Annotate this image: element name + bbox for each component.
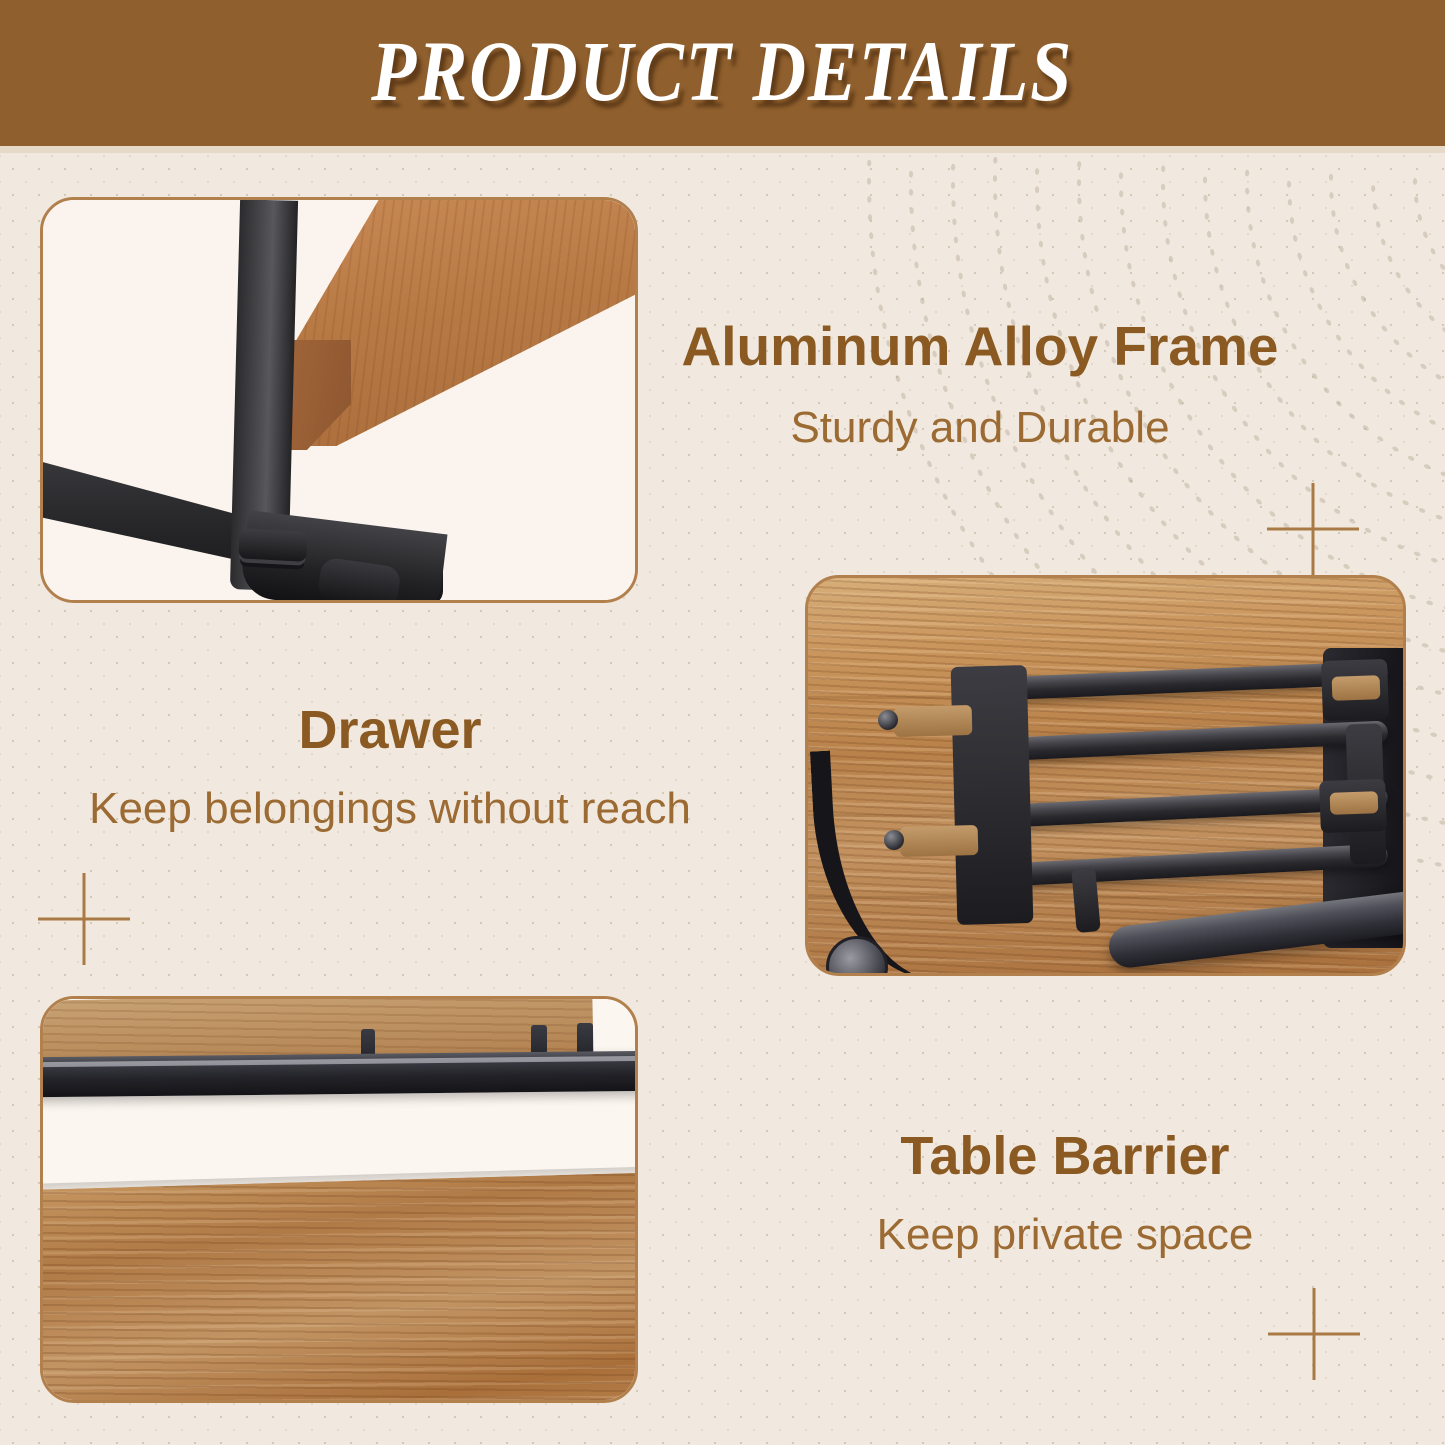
feature-text-drawer: Drawer Keep belongings without reach [60,702,720,833]
feature-subtitle: Sturdy and Durable [655,404,1305,452]
header-bar: PRODUCT DETAILS [0,0,1445,146]
feature-title: Table Barrier [745,1128,1385,1185]
page-title: PRODUCT DETAILS [372,28,1074,118]
plus-mark-icon [1268,1288,1360,1380]
left-mounting-plate [951,665,1034,925]
feature-subtitle: Keep belongings without reach [60,785,720,833]
aluminum-frame-photo [43,200,635,600]
feature-title: Aluminum Alloy Frame [655,318,1305,376]
feature-text-table-barrier: Table Barrier Keep private space [745,1128,1385,1259]
bolt-upper [878,710,898,730]
feature-image-drawer [805,575,1406,976]
leg-collar-joint [238,528,307,562]
plus-mark-icon [1267,483,1359,575]
header-underline [0,146,1445,153]
feature-text-aluminum-alloy-frame: Aluminum Alloy Frame Sturdy and Durable [655,318,1305,452]
table-barrier-photo [43,999,635,1400]
feature-title: Drawer [60,702,720,759]
feature-image-table-barrier [40,996,638,1403]
drawer-rails-photo [808,578,1403,973]
plus-mark-icon [38,873,130,965]
desk-surface-wood [40,1172,638,1403]
product-details-infographic: PRODUCT DETAILS Aluminum Alloy Frame Stu… [0,0,1445,1445]
feature-image-aluminum-alloy-frame [40,197,638,603]
feature-subtitle: Keep private space [745,1211,1385,1259]
